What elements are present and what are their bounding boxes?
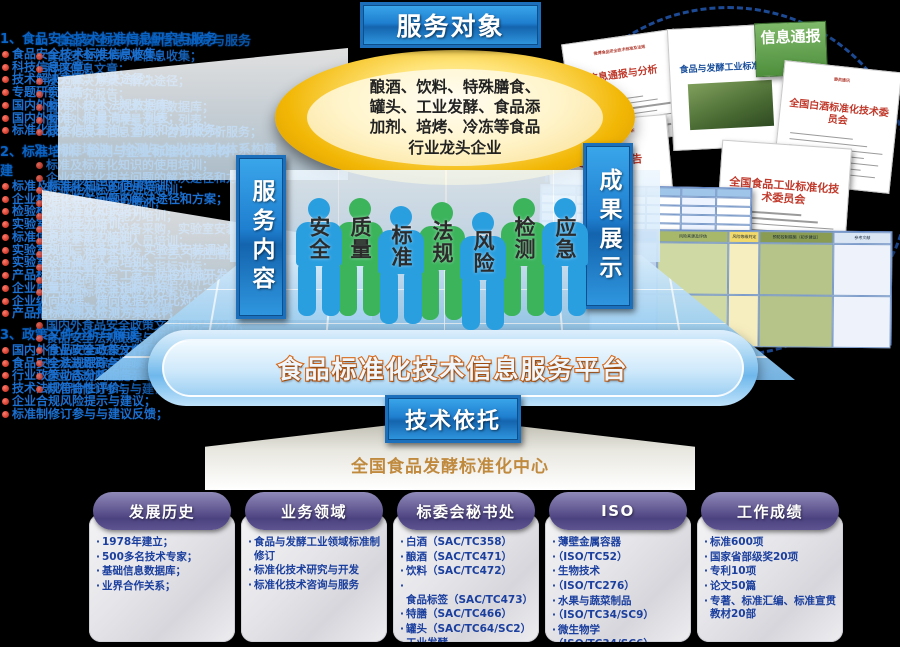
document-subtitle-top: 委员通讯 <box>784 71 900 89</box>
audience-disc: 酿酒、饮料、特殊膳食、 罐头、工业发酵、食品添 加剂、培烤、冷冻等食品 行业龙头… <box>275 50 635 185</box>
card-title-1: 发展历史 <box>93 492 231 530</box>
bullet-icon <box>2 89 9 96</box>
person-leg-right <box>322 264 340 316</box>
service-group-heading-1: 1、食品安全技术标准信息研究与服务 <box>34 30 284 49</box>
card-3-item-5: 特膳（SAC/TC466） <box>400 608 532 622</box>
card-title-4: ISO <box>549 492 687 530</box>
card-5-item-4: 论文50篇 <box>704 580 836 594</box>
card-3-item-2: 酿酒（SAC/TC471） <box>400 551 532 565</box>
card-4-item-7: 微生物学 <box>552 624 684 638</box>
bullet-icon <box>36 78 43 85</box>
bullet-icon <box>36 322 43 329</box>
card-2[interactable]: 食品与发酵工业领域标准制修订标准化技术研究与开发标准化技术咨询与服务业务领域 <box>241 492 387 642</box>
card-2-item-2: 标准化技术研究与开发 <box>248 564 380 578</box>
person-label-检测: 检测 <box>501 216 547 260</box>
bullet-icon <box>2 385 9 392</box>
bullet-icon <box>36 226 43 233</box>
risk-table-cell <box>833 244 892 297</box>
bullet-icon <box>36 373 43 380</box>
bullet-icon <box>36 386 43 393</box>
risk-table-header-cell: 参考文献 <box>833 232 891 245</box>
risk-table-cell <box>832 296 891 349</box>
bullet-icon <box>36 187 43 194</box>
card-list: 标准600项国家省部级奖20项专利10项论文50篇专著、标准汇编、标准宣贯教材2… <box>704 536 836 622</box>
person-label-应急: 应急 <box>542 216 588 260</box>
bullet-icon <box>36 238 43 245</box>
risk-table-cell <box>728 243 759 295</box>
card-3-item-1: 白酒（SAC/TC358） <box>400 536 532 550</box>
bullet-icon <box>2 285 9 292</box>
card-1[interactable]: 1978年建立；500多名技术专家；基础信息数据库；业界合作关系；发展历史 <box>89 492 235 642</box>
bullet-icon <box>36 175 43 182</box>
risk-table-header-cell: 风险等级判定 <box>729 231 760 243</box>
bullet-icon <box>2 115 9 122</box>
bullet-icon <box>2 360 9 367</box>
card-1-item-4: 业界合作关系； <box>96 580 228 594</box>
person-leg-left <box>462 278 480 330</box>
bullet-icon <box>2 183 9 190</box>
bullet-icon <box>2 127 9 134</box>
risk-table-header-cell: 风险来源及评估 <box>657 230 729 243</box>
person-figure-风险: 风险 <box>460 212 506 330</box>
card-2-item-3: 标准化技术咨询与服务 <box>248 579 380 593</box>
audience-text: 酿酒、饮料、特殊膳食、 罐头、工业发酵、食品添 加剂、培烤、冷冻等食品 行业龙头… <box>362 77 549 158</box>
bullet-icon <box>36 277 43 284</box>
risk-table-header-cell: 预防控制措施（初步建议） <box>760 231 834 244</box>
card-3-item-3: 饮料（SAC/TC472） <box>400 565 532 579</box>
bullet-icon <box>36 91 43 98</box>
person-figure-检测: 检测 <box>501 198 547 316</box>
person-leg-left <box>298 264 316 316</box>
card-body: 标准600项国家省部级奖20项专利10项论文50篇专著、标准汇编、标准宣贯教材2… <box>697 514 843 642</box>
bullet-icon <box>36 104 43 111</box>
bullet-icon <box>2 247 9 254</box>
bullet-icon <box>2 259 9 266</box>
bullet-icon <box>2 208 9 215</box>
card-4[interactable]: 薄壁金属容器（ISO/TC52）生物技术（ISO/TC276）水果与蔬菜制品（I… <box>545 492 691 642</box>
bullet-icon <box>36 129 43 136</box>
document-title: 信息通报 <box>755 28 826 47</box>
service-item-text: 食品安全技术标准信息收集； <box>46 50 202 63</box>
bullet-icon <box>2 347 9 354</box>
bullet-icon <box>2 76 9 83</box>
card-list: 白酒（SAC/TC358）酿酒（SAC/TC471）饮料（SAC/TC472）食… <box>400 536 532 642</box>
service-item-text: 标准制修订参与与建议反馈； <box>12 408 168 421</box>
card-1-item-1: 1978年建立； <box>96 536 228 550</box>
card-title-5: 工作成绩 <box>701 492 839 530</box>
bullet-icon <box>36 117 43 124</box>
bullet-icon <box>36 335 43 342</box>
bullet-icon <box>36 162 43 169</box>
service-item-3-6: 标准制修订参与与建议反馈； <box>0 408 240 421</box>
bullet-icon <box>2 310 9 317</box>
card-4-item-1: 薄壁金属容器 <box>552 536 684 550</box>
person-leg-left <box>544 264 562 316</box>
person-leg-right <box>486 278 504 330</box>
card-4-item-4: （ISO/TC276） <box>552 580 684 594</box>
person-label-安全: 安全 <box>296 216 342 260</box>
card-5[interactable]: 标准600项国家省部级奖20项专利10项论文50篇专著、标准汇编、标准宣贯教材2… <box>697 492 843 642</box>
bullet-icon <box>36 200 43 207</box>
infographic-canvas: 1、食品安全技术标准信息研究与服务食品安全技术标准信息收集；科技信息文章；技术解… <box>0 0 900 647</box>
bullet-icon <box>2 234 9 241</box>
card-2-item-1: 食品与发酵工业领域标准制修订 <box>248 536 380 563</box>
document-subtitle-top <box>723 151 851 160</box>
card-4-item-6: （ISO/TC34/SC9） <box>552 609 684 623</box>
card-body: 白酒（SAC/TC358）酿酒（SAC/TC471）饮料（SAC/TC472）食… <box>393 514 539 642</box>
person-label-标准: 标准 <box>378 224 424 268</box>
bullet-icon <box>36 66 43 73</box>
card-1-item-3: 基础信息数据库； <box>96 565 228 579</box>
banner-service-content: 服务内容 <box>236 155 286 319</box>
person-leg-right <box>404 272 422 324</box>
bullet-icon <box>2 411 9 418</box>
person-figure-应急: 应急 <box>542 198 588 316</box>
card-5-item-1: 标准600项 <box>704 536 836 550</box>
audience-disc-inner: 酿酒、饮料、特殊膳食、 罐头、工业发酵、食品添 加剂、培烤、冷冻等食品 行业龙头… <box>307 69 602 166</box>
card-1-item-2: 500多名技术专家； <box>96 551 228 565</box>
card-3-item-7: 工业发酵（SAC/TC64/SC5） <box>400 637 532 642</box>
card-title-2: 业务领域 <box>245 492 383 530</box>
card-body: 食品与发酵工业领域标准制修订标准化技术研究与开发标准化技术咨询与服务 <box>241 514 387 642</box>
person-leg-right <box>568 264 586 316</box>
support-org-label: 全国食品发酵标准化中心 <box>205 452 695 477</box>
card-body: 1978年建立；500多名技术专家；基础信息数据库；业界合作关系； <box>89 514 235 642</box>
card-4-item-5: 水果与蔬菜制品 <box>552 595 684 609</box>
card-5-item-3: 专利10项 <box>704 565 836 579</box>
banner-achievements: 成果展示 <box>583 143 633 309</box>
card-3-item-4: 食品标签（SAC/TC473） <box>400 580 532 607</box>
banner-audience: 服务对象 <box>360 2 541 48</box>
platform-title: 食品标准化技术信息服务平台 <box>277 350 628 386</box>
risk-table-cell <box>759 295 833 348</box>
bullet-icon <box>36 264 43 271</box>
card-list: 1978年建立；500多名技术专家；基础信息数据库；业界合作关系； <box>96 536 228 594</box>
person-label-风险: 风险 <box>460 230 506 274</box>
bullet-icon <box>2 298 9 305</box>
bullet-icon <box>2 398 9 405</box>
person-leg-left <box>380 272 398 324</box>
card-4-item-2: （ISO/TC52） <box>552 551 684 565</box>
card-title-3: 标委会秘书处 <box>397 492 535 530</box>
bullet-icon <box>2 102 9 109</box>
banner-technical-support: 技术依托 <box>385 395 521 443</box>
card-list: 食品与发酵工业领域标准制修订标准化技术研究与开发标准化技术咨询与服务 <box>248 536 380 593</box>
bullet-icon <box>36 53 43 60</box>
card-5-item-5: 专著、标准汇编、标准宣贯教材20部 <box>704 595 836 622</box>
bullet-icon <box>2 372 9 379</box>
document-title: 全国白酒标准化技术委员会 <box>779 97 897 132</box>
person-label-法规: 法规 <box>419 220 465 264</box>
bullet-icon <box>36 251 43 258</box>
bullet-icon <box>2 64 9 71</box>
floor-gridline <box>95 323 795 325</box>
card-4-item-3: 生物技术 <box>552 565 684 579</box>
bullet-icon <box>2 272 9 279</box>
person-label-质量: 质量 <box>337 216 383 260</box>
person-figure-标准: 标准 <box>378 206 424 324</box>
document-photo <box>687 80 774 130</box>
bullet-icon <box>36 289 43 296</box>
person-figure-法规: 法规 <box>419 202 465 320</box>
person-figure-质量: 质量 <box>337 198 383 316</box>
bullet-icon <box>36 347 43 354</box>
card-body: 薄壁金属容器（ISO/TC52）生物技术（ISO/TC276）水果与蔬菜制品（I… <box>545 514 691 642</box>
risk-table-cell <box>759 243 833 296</box>
card-5-item-2: 国家省部级奖20项 <box>704 551 836 565</box>
bullet-icon <box>2 196 9 203</box>
card-list: 薄壁金属容器（ISO/TC52）生物技术（ISO/TC276）水果与蔬菜制品（I… <box>552 536 684 642</box>
person-figure-安全: 安全 <box>296 198 342 316</box>
card-4-item-8: （ISO/TC34/SC6） <box>552 638 684 642</box>
bullet-icon <box>2 221 9 228</box>
bullet-icon <box>2 51 9 58</box>
card-3[interactable]: 白酒（SAC/TC358）酿酒（SAC/TC471）饮料（SAC/TC472）食… <box>393 492 539 642</box>
bullet-icon <box>36 360 43 367</box>
card-3-item-6: 罐头（SAC/TC64/SC2） <box>400 623 532 637</box>
service-item-text: 企业合规风险提示与建议； <box>12 395 156 408</box>
bullet-icon <box>36 213 43 220</box>
